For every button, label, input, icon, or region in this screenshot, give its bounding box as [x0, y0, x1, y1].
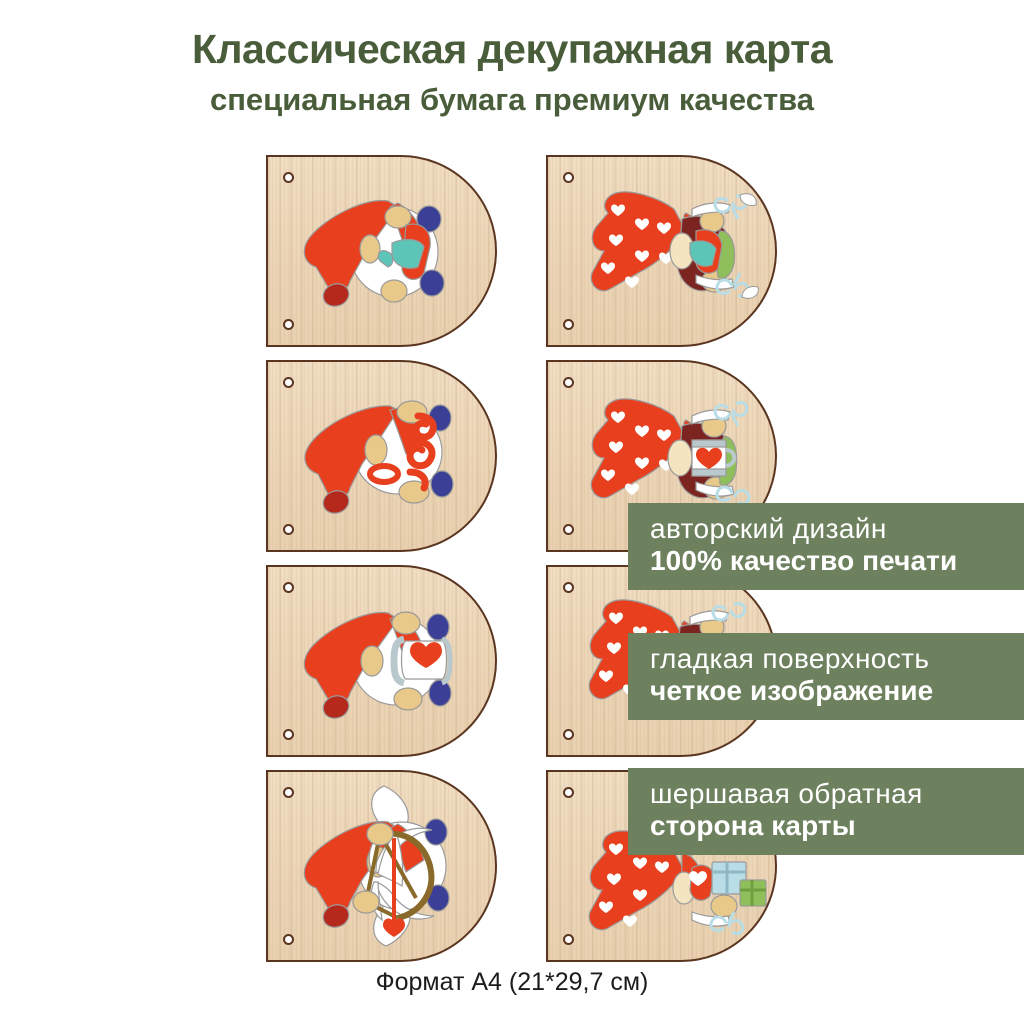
gnome-heart-hat-wreath-bows-art [546, 155, 777, 347]
tag-r4c1 [266, 770, 497, 962]
gnome-plain-hat-teal-scarf-art [266, 155, 497, 347]
badge-smooth-surface: гладкая поверхность четкое изображение [628, 633, 1024, 720]
badge-line-2: сторона карты [650, 810, 1024, 842]
gnome-swirl-beard-art [266, 360, 497, 552]
tag-r3c1 [266, 565, 497, 757]
badge-line-1: авторский дизайн [650, 513, 1024, 545]
format-caption: Формат A4 (21*29,7 см) [0, 968, 1024, 997]
badge-line-2: 100% качество печати [650, 545, 1024, 577]
badge-line-1: шершавая обратная [650, 778, 1024, 810]
tag-r2c1 [266, 360, 497, 552]
tag-r1c1 [266, 155, 497, 347]
badge-line-1: гладкая поверхность [650, 643, 1024, 675]
tag-r1c2 [546, 155, 777, 347]
gnome-holding-heart-art [266, 565, 497, 757]
badge-rough-back-side: шершавая обратная сторона карты [628, 768, 1024, 855]
poster-header: Классическая декупажная карта специальна… [0, 0, 1024, 118]
page-subtitle: специальная бумага премиум качества [0, 73, 1024, 118]
gnome-cupid-wings-bow-art [266, 770, 497, 962]
badge-authors-design: авторский дизайн 100% качество печати [628, 503, 1024, 590]
badge-line-2: четкое изображение [650, 675, 1024, 707]
poster-root: Классическая декупажная карта специальна… [0, 0, 1024, 1021]
page-title: Классическая декупажная карта [0, 0, 1024, 73]
